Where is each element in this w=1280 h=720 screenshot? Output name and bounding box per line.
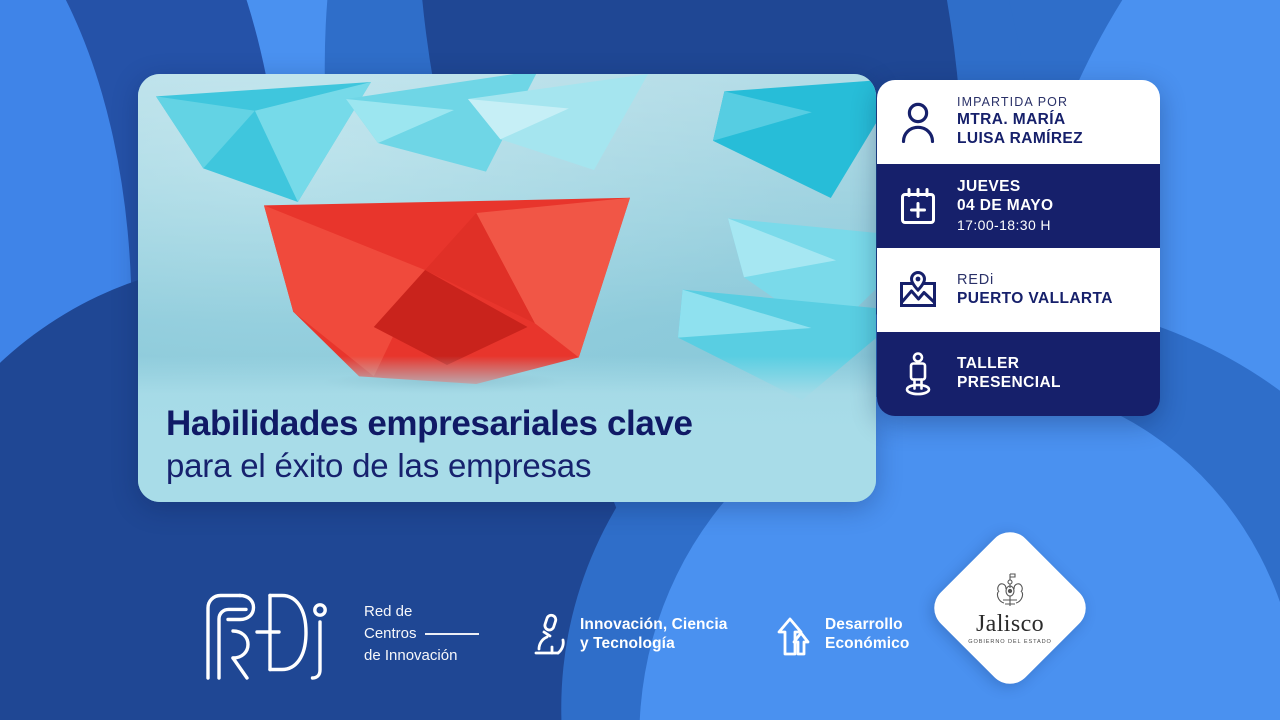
redi-logo-icon	[200, 586, 350, 682]
speaker-text: IMPARTIDA POR MTRA. MARÍA LUISA RAMÍREZ	[957, 95, 1083, 149]
modality-text: TALLER PRESENCIAL	[957, 355, 1061, 393]
map-pin-icon	[895, 266, 941, 314]
redi-text-line3: de Innovación	[364, 645, 479, 667]
location-text: REDi PUERTO VALLARTA	[957, 271, 1113, 308]
eco-logo-text: Desarrollo Económico	[825, 616, 909, 654]
poster-canvas: Habilidades empresariales clave para el …	[0, 0, 1280, 720]
speaker-label: IMPARTIDA POR	[957, 95, 1083, 109]
page-subtitle: para el éxito de las empresas	[166, 448, 852, 484]
info-row-location: REDi PUERTO VALLARTA	[877, 248, 1160, 332]
redi-text-line2: Centros	[364, 625, 417, 642]
speaker-name-line2: LUISA RAMÍREZ	[957, 130, 1083, 149]
title-block: Habilidades empresariales clave para el …	[166, 405, 852, 484]
eco-line1: Desarrollo	[825, 616, 909, 635]
jalisco-subtitle: GOBIERNO DEL ESTADO	[968, 639, 1052, 645]
info-row-speaker: IMPARTIDA POR MTRA. MARÍA LUISA RAMÍREZ	[877, 80, 1160, 164]
date-day-month: 04 DE MAYO	[957, 197, 1053, 216]
person-icon	[895, 98, 941, 146]
standing-person-icon	[895, 350, 941, 398]
ict-line1: Innovación, Ciencia	[580, 616, 727, 635]
speaker-name-line1: MTRA. MARÍA	[957, 111, 1083, 130]
redi-divider-line	[425, 633, 479, 635]
ict-line2: y Tecnología	[580, 635, 727, 654]
microscope-icon	[530, 612, 570, 658]
jalisco-name: Jalisco	[976, 612, 1044, 636]
location-center: REDi	[957, 271, 1113, 289]
modality-line2: PRESENCIAL	[957, 374, 1061, 393]
eco-logo: Desarrollo Económico	[775, 612, 909, 658]
ict-logo: Innovación, Ciencia y Tecnología	[530, 612, 727, 658]
date-time-range: 17:00-18:30 H	[957, 216, 1053, 234]
event-info-stack: IMPARTIDA POR MTRA. MARÍA LUISA RAMÍREZ …	[877, 80, 1160, 416]
info-row-date: JUEVES 04 DE MAYO 17:00-18:30 H	[877, 164, 1160, 248]
paper-boat-icon	[468, 74, 648, 170]
location-city: PUERTO VALLARTA	[957, 290, 1113, 309]
arrows-up-icon	[775, 612, 815, 658]
ict-logo-text: Innovación, Ciencia y Tecnología	[580, 616, 727, 654]
info-row-modality: TALLER PRESENCIAL	[877, 332, 1160, 416]
calendar-plus-icon	[895, 182, 941, 230]
date-weekday: JUEVES	[957, 178, 1053, 197]
photo-card: Habilidades empresariales clave para el …	[138, 74, 876, 502]
modality-line1: TALLER	[957, 355, 1061, 374]
redi-logo: Red de Centros de Innovación	[200, 586, 479, 682]
redi-text-line1: Red de	[364, 601, 479, 623]
paper-boat-icon	[713, 74, 876, 198]
date-text: JUEVES 04 DE MAYO 17:00-18:30 H	[957, 178, 1053, 234]
logo-bar: Red de Centros de Innovación Innovación,…	[0, 572, 1280, 692]
jalisco-crest-icon	[989, 572, 1031, 610]
redi-logo-text: Red de Centros de Innovación	[364, 601, 479, 666]
jalisco-badge: Jalisco GOBIERNO DEL ESTADO	[925, 523, 1095, 693]
page-title: Habilidades empresariales clave	[166, 405, 852, 443]
eco-line2: Económico	[825, 635, 909, 654]
